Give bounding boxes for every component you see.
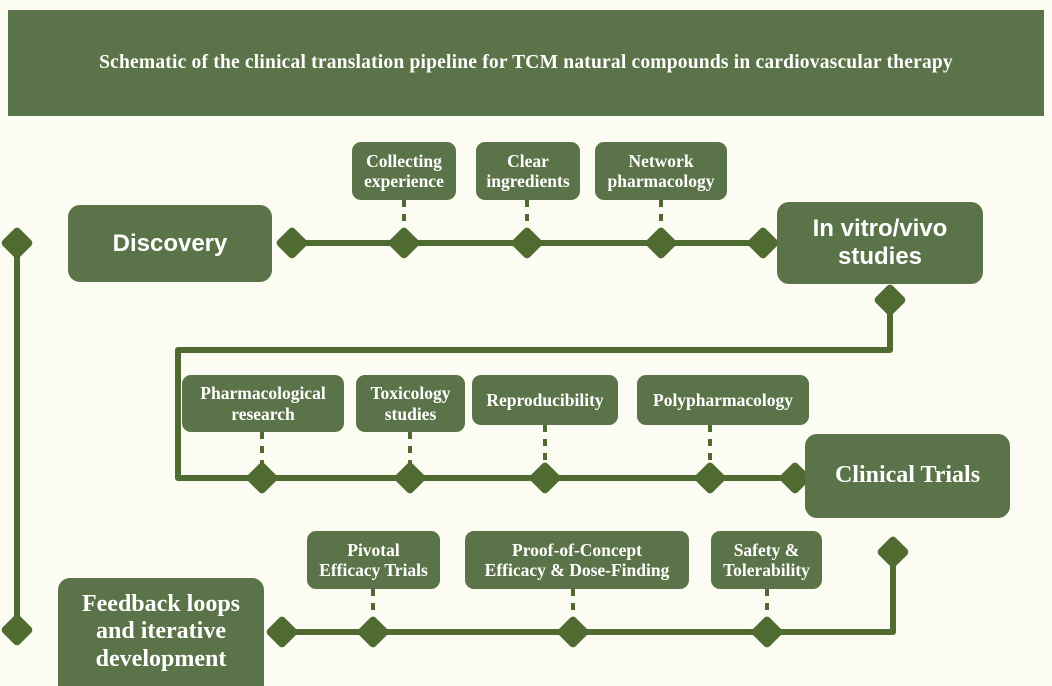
row2-item-1-label: Toxicology studies [364, 383, 457, 423]
row2-item-1[interactable]: Toxicology studies [356, 375, 465, 432]
diamond-row3-a [265, 615, 299, 649]
stage-in-vitro-vivo-label: In vitro/vivo studies [777, 215, 983, 270]
diamond-invitro-bottom [873, 283, 907, 317]
stage-feedback-loops[interactable]: Feedback loops and iterative development [58, 578, 264, 686]
row2-item-0-label: Pharmacological research [190, 383, 336, 423]
row3-item-0-label: Pivotal Efficacy Trials [315, 540, 432, 580]
row3-item-1-label: Proof-of-Concept Efficacy & Dose-Finding [473, 540, 681, 580]
row3-item-1[interactable]: Proof-of-Concept Efficacy & Dose-Finding [465, 531, 689, 589]
diamond-row2-d [693, 461, 727, 495]
diamond-row1-b [387, 226, 421, 260]
row3-item-2[interactable]: Safety & Tolerability [711, 531, 822, 589]
row1-item-1[interactable]: Clear ingredients [476, 142, 580, 200]
stage-feedback-loops-label: Feedback loops and iterative development [58, 591, 264, 674]
stage-discovery[interactable]: Discovery [68, 205, 272, 282]
diamond-row1-c [510, 226, 544, 260]
diamond-row1-d [644, 226, 678, 260]
row2-item-0[interactable]: Pharmacological research [182, 375, 344, 432]
row3-item-2-label: Safety & Tolerability [719, 540, 814, 580]
diamond-row3-c [556, 615, 590, 649]
stage-clinical-trials[interactable]: Clinical Trials [805, 434, 1010, 518]
diamond-row2-b [393, 461, 427, 495]
diamond-spine-bottom [0, 613, 34, 647]
row1-item-0[interactable]: Collecting experience [352, 142, 456, 200]
diamond-row2-c [528, 461, 562, 495]
diamond-row3-riser-top [876, 535, 910, 569]
stage-discovery-label: Discovery [68, 230, 272, 258]
row2-item-2[interactable]: Reproducibility [472, 375, 618, 425]
row3-item-0[interactable]: Pivotal Efficacy Trials [307, 531, 440, 589]
row1-item-2-label: Network pharmacology [603, 151, 719, 191]
diagram-canvas: Schematic of the clinical translation pi… [0, 0, 1052, 686]
diamond-row3-b [356, 615, 390, 649]
row1-item-2[interactable]: Network pharmacology [595, 142, 727, 200]
row2-item-3[interactable]: Polypharmacology [637, 375, 809, 425]
row1-item-1-label: Clear ingredients [484, 151, 572, 191]
stage-clinical-trials-label: Clinical Trials [805, 462, 1010, 490]
diamond-spine-top [0, 226, 34, 260]
diamond-row1-e [746, 226, 780, 260]
stage-in-vitro-vivo[interactable]: In vitro/vivo studies [777, 202, 983, 284]
row1-item-0-label: Collecting experience [360, 151, 448, 191]
diamond-row1-a [275, 226, 309, 260]
row2-item-2-label: Reproducibility [480, 390, 610, 410]
row2-item-3-label: Polypharmacology [645, 390, 801, 410]
diamond-row3-d [750, 615, 784, 649]
diamond-row2-a [245, 461, 279, 495]
